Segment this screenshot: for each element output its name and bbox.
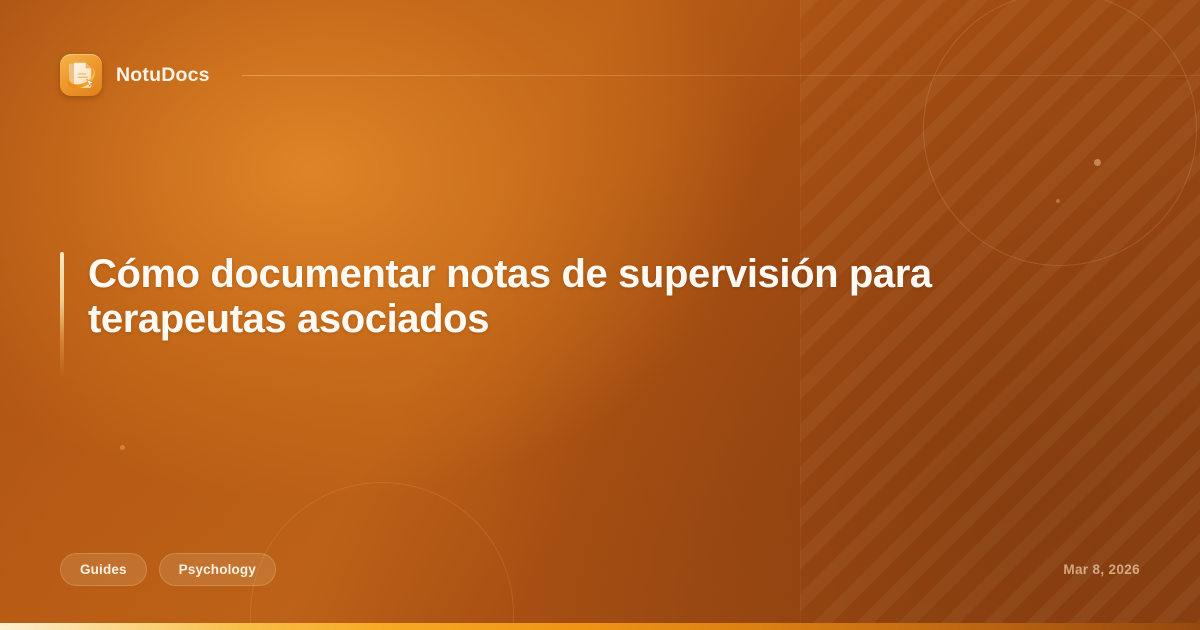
header-divider: [242, 75, 1200, 76]
brand-name: NotuDocs: [116, 64, 210, 87]
hero-title-block: Cómo documentar notas de supervisión par…: [60, 252, 960, 376]
decorative-circle-top-right: [923, 0, 1197, 266]
tag-psychology[interactable]: Psychology: [159, 553, 276, 586]
tag-list: Guides Psychology: [60, 553, 276, 586]
og-card: NotuDocs Cómo documentar notas de superv…: [0, 0, 1200, 630]
decorative-dot: [120, 445, 125, 450]
footer: Guides Psychology Mar 8, 2026: [60, 553, 1140, 586]
publish-date: Mar 8, 2026: [1063, 562, 1140, 577]
decorative-dot: [1094, 159, 1101, 166]
brand-logo[interactable]: NotuDocs: [60, 54, 210, 96]
bottom-accent-bar: [0, 623, 1200, 630]
decorative-dot: [1056, 199, 1060, 203]
page-title: Cómo documentar notas de supervisión par…: [64, 252, 960, 376]
tag-guides[interactable]: Guides: [60, 553, 147, 586]
document-swoosh-icon: [60, 54, 102, 96]
header: NotuDocs: [60, 52, 1200, 98]
